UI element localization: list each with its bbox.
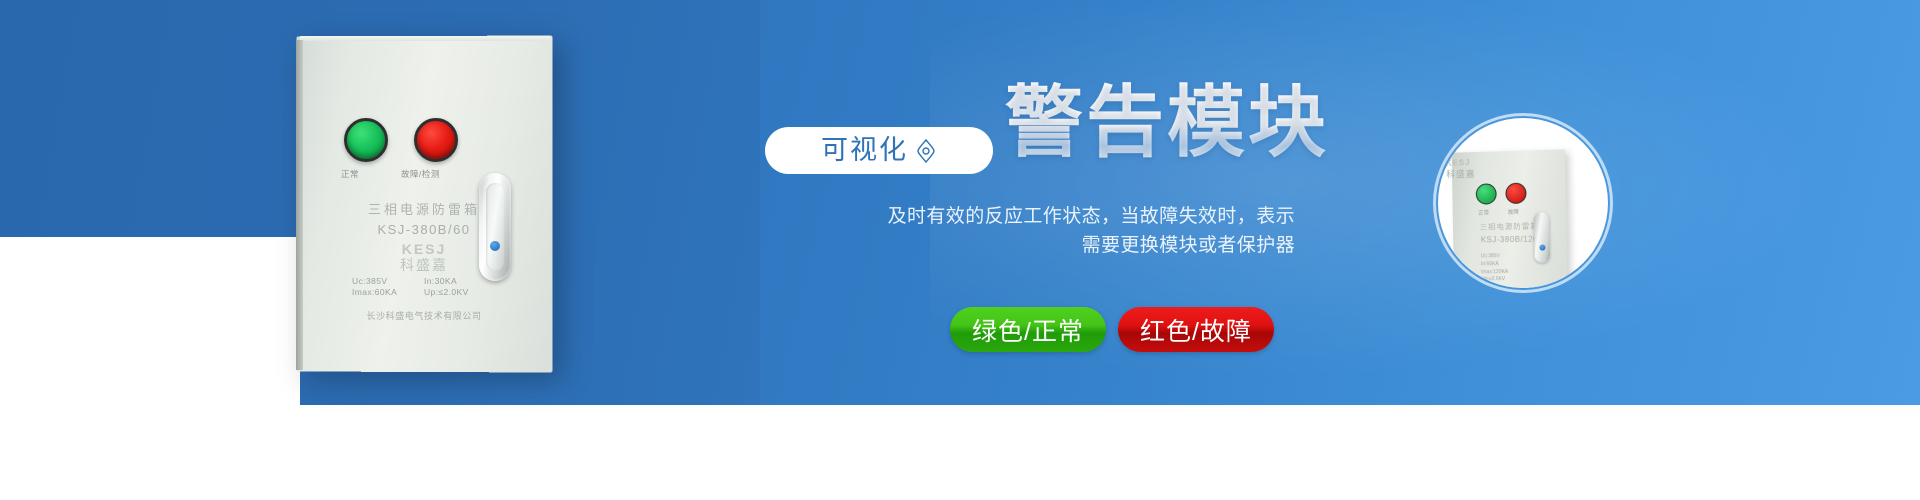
product-model-number: KSJ-380B/60	[296, 222, 552, 237]
spec-imax: Imax:60KA	[352, 287, 424, 297]
inset-lamp-label-normal: 正常	[1478, 208, 1489, 216]
enclosure-latch-handle	[479, 173, 511, 281]
inset-latch-handle	[1534, 212, 1550, 263]
product-photo-main: 正常 故障/检测 三相电源防雷箱 KSJ-380B/60 KESJ 科盛嘉 Uc…	[296, 36, 552, 372]
inset-model-number: KSJ-380B/120	[1453, 234, 1567, 245]
promo-banner: 正常 故障/检测 三相电源防雷箱 KSJ-380B/60 KESJ 科盛嘉 Uc…	[0, 0, 1920, 500]
lamp-label-fault: 故障/检测	[401, 168, 440, 180]
inset-indicator-lamp-green	[1476, 183, 1497, 204]
pill-label: 可视化	[821, 137, 908, 164]
inset-latch-lock-dot	[1539, 245, 1545, 251]
product-brand-chinese: 科盛嘉	[296, 255, 552, 275]
visualization-pill-badge: 可视化	[765, 127, 993, 174]
banner-title: 警告模块	[1005, 82, 1329, 164]
indicator-lamp-red	[414, 118, 458, 162]
product-panel-title: 三相电源防雷箱	[296, 199, 552, 218]
indicator-lamp-green	[344, 118, 388, 162]
inset-lamp-label-fault: 故障	[1508, 208, 1519, 216]
status-badge-group: 绿色/正常 红色/故障	[950, 307, 1274, 352]
product-company-name: 长沙科盛电气技术有限公司	[296, 309, 552, 322]
inset-brand-chinese: 科盛嘉	[1446, 167, 1476, 181]
inset-spec-up: Up:≤2.5KV	[1481, 276, 1508, 284]
banner-subtitle: 及时有效的反应工作状态，当故障失效时，表示 需要更换模块或者保护器	[760, 202, 1295, 261]
banner-white-strip-bottom	[0, 405, 1920, 500]
latch-lock-dot	[490, 241, 500, 251]
inset-spec-imax: Imax:120KA	[1481, 269, 1508, 277]
inset-circle-mask: KESJ 科盛嘉 正常 故障 三相电源防雷箱 KSJ-380B/120 Uc:3…	[1438, 118, 1608, 288]
spec-up: Up:≤2.0KV	[424, 287, 496, 297]
product-enclosure-top-edge	[300, 36, 550, 41]
product-spec-row-1: Uc:385VIn:30KA	[296, 276, 552, 286]
eye-diamond-icon	[915, 138, 937, 164]
banner-subtitle-line-1: 及时有效的反应工作状态，当故障失效时，表示	[760, 202, 1295, 231]
spec-uc: Uc:385V	[352, 276, 424, 286]
status-badge-fault[interactable]: 红色/故障	[1118, 307, 1274, 352]
product-spec-row-2: Imax:60KAUp:≤2.0KV	[296, 287, 552, 297]
product-photo-inset: KESJ 科盛嘉 正常 故障 三相电源防雷箱 KSJ-380B/120 Uc:3…	[1438, 118, 1608, 288]
inset-indicator-lamp-red	[1505, 183, 1526, 204]
inset-panel-title: 三相电源防雷箱	[1453, 220, 1567, 233]
banner-subtitle-line-2: 需要更换模块或者保护器	[760, 231, 1295, 260]
inset-enclosure: KESJ 科盛嘉 正常 故障 三相电源防雷箱 KSJ-380B/120 Uc:3…	[1452, 149, 1568, 288]
latch-inner-plate	[486, 183, 504, 271]
lamp-label-normal: 正常	[341, 168, 359, 180]
inset-spec-block: Uc:385V In:60KA Imax:120KA Up:≤2.5KV	[1481, 253, 1508, 284]
status-badge-normal[interactable]: 绿色/正常	[950, 307, 1106, 352]
